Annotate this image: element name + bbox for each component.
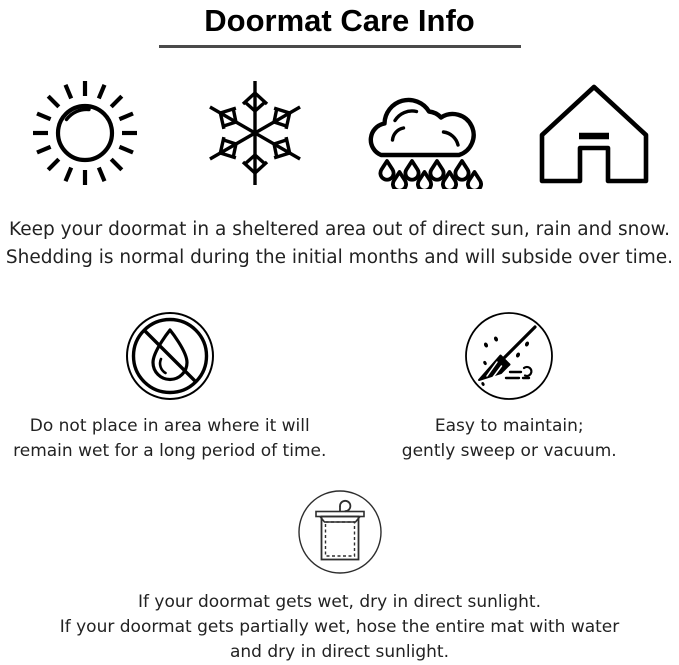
care-caption-line-1: Do not place in area where it will — [13, 414, 326, 439]
care-item-caption-maintain: Easy to maintain; gently sweep or vacuum… — [402, 414, 617, 464]
care-item-no-standing-water: Do not place in area where it will remai… — [0, 310, 340, 464]
care-caption-line-2: gently sweep or vacuum. — [402, 439, 617, 464]
weather-icon-row — [0, 70, 679, 195]
intro-line-1: Keep your doormat in a sheltered area ou… — [0, 216, 679, 244]
drying-caption-line-1: If your doormat gets wet, dry in direct … — [60, 590, 620, 615]
sun-icon — [30, 77, 140, 189]
title-underline-rule — [159, 45, 521, 48]
intro-line-2: Shedding is normal during the initial mo… — [0, 244, 679, 272]
no-water-icon — [124, 310, 216, 402]
intro-paragraph: Keep your doormat in a sheltered area ou… — [0, 216, 679, 272]
rain-cloud-icon — [365, 77, 483, 189]
snowflake-icon — [203, 77, 307, 189]
drying-section: If your doormat gets wet, dry in direct … — [0, 488, 679, 665]
care-items-row: Do not place in area where it will remai… — [0, 310, 679, 464]
hang-dry-icon — [296, 488, 384, 576]
weather-cell-house — [509, 70, 679, 195]
care-caption-line-1: Easy to maintain; — [402, 414, 617, 439]
page-header: Doormat Care Info — [0, 0, 679, 48]
care-caption-line-2: remain wet for a long period of time. — [13, 439, 326, 464]
drying-caption-line-3: and dry in direct sunlight. — [60, 640, 620, 665]
drying-caption: If your doormat gets wet, dry in direct … — [60, 590, 620, 665]
weather-cell-snow — [170, 70, 340, 195]
drying-caption-line-2: If your doormat gets partially wet, hose… — [60, 615, 620, 640]
house-icon — [537, 77, 651, 189]
care-item-caption-no-water: Do not place in area where it will remai… — [13, 414, 326, 464]
weather-cell-sun — [0, 70, 170, 195]
page-title: Doormat Care Info — [0, 0, 679, 40]
broom-icon — [463, 310, 555, 402]
care-item-easy-maintain: Easy to maintain; gently sweep or vacuum… — [340, 310, 679, 464]
weather-cell-rain — [340, 70, 510, 195]
